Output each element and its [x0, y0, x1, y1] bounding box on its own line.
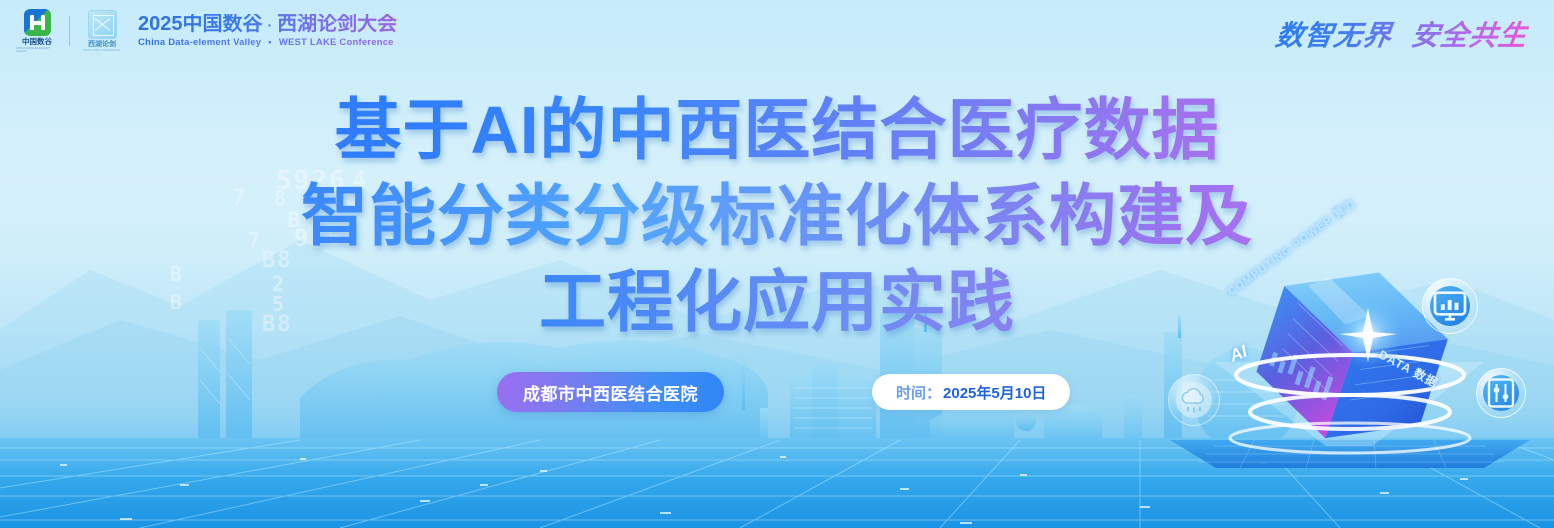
sliders-icon: [1483, 375, 1519, 411]
date-label: 时间：: [896, 382, 941, 403]
header-slogan: 数智无界≡安全共生: [1274, 14, 1531, 54]
header-event-title: 2025中国数谷·西湖论剑大会 China Data-element Valle…: [138, 14, 397, 48]
slogan-left: 数智无界: [1274, 20, 1394, 51]
header-logos: 中国数谷 CHINA DATA-ELEMENT VALLEY 西湖论剑 WEST…: [14, 9, 397, 54]
header-title-dot: ·: [263, 17, 278, 33]
logo-divider: [69, 16, 70, 46]
date-value: 2025年5月10日: [943, 382, 1046, 403]
logo-secondary-en: WEST LAKE CONFERENCE: [83, 49, 120, 52]
slogan-separator: ≡: [1390, 29, 1412, 49]
date-badge: 时间：2025年5月10日: [872, 374, 1070, 410]
logo-secondary-cn: 西湖论剑: [88, 41, 116, 48]
title-line-1: 基于AI的中西医结合医疗数据: [0, 88, 1554, 174]
slogan-right: 安全共生: [1410, 20, 1530, 51]
bubble-cloud-rain: [1168, 374, 1220, 426]
bubble-sliders: [1476, 368, 1526, 418]
logo-primary-cn: 中国数谷: [22, 38, 52, 46]
light-funnel: [1214, 362, 1484, 446]
china-data-valley-logo-icon: [24, 9, 51, 36]
west-lake-conference-logo-icon: [88, 10, 117, 39]
header-title-cn: 2025中国数谷: [138, 13, 263, 35]
perspective-grid: [0, 440, 1554, 528]
title-line-3: 工程化应用实践: [0, 260, 1554, 346]
header-title-en-dot: •: [261, 37, 279, 48]
cloud-rain-icon: [1176, 382, 1212, 418]
data-particles: [60, 456, 1468, 524]
logo-west-lake: 西湖论剑 WEST LAKE CONFERENCE: [79, 10, 125, 52]
title-line-2: 智能分类分级标准化体系构建及: [0, 174, 1554, 260]
organization-badge: 成都市中西医结合医院: [497, 372, 724, 412]
page-title: 基于AI的中西医结合医疗数据 智能分类分级标准化体系构建及 工程化应用实践: [0, 88, 1554, 346]
cube-face-data-label: DATA 数据: [1376, 346, 1442, 392]
header-title-en-row: China Data-element Valley•WEST LAKE Conf…: [138, 38, 397, 48]
logo-china-data-valley: 中国数谷 CHINA DATA-ELEMENT VALLEY: [14, 9, 60, 54]
header-title-en-2: WEST LAKE Conference: [279, 37, 394, 48]
header-title-en: China Data-element Valley: [138, 37, 261, 48]
cube-base-plate: [1170, 440, 1530, 468]
header-title-cn-2: 西湖论剑大会: [277, 13, 397, 35]
halo-rings: [1230, 355, 1470, 453]
conference-banner: 5926 4 7 8 B 936 7 B8 2 5 B8 B B 7: [0, 0, 1554, 528]
banner-header: 中国数谷 CHINA DATA-ELEMENT VALLEY 西湖论剑 WEST…: [0, 0, 1554, 64]
header-title-cn-row: 2025中国数谷·西湖论剑大会: [138, 14, 397, 35]
logo-primary-en: CHINA DATA-ELEMENT VALLEY: [16, 47, 58, 53]
